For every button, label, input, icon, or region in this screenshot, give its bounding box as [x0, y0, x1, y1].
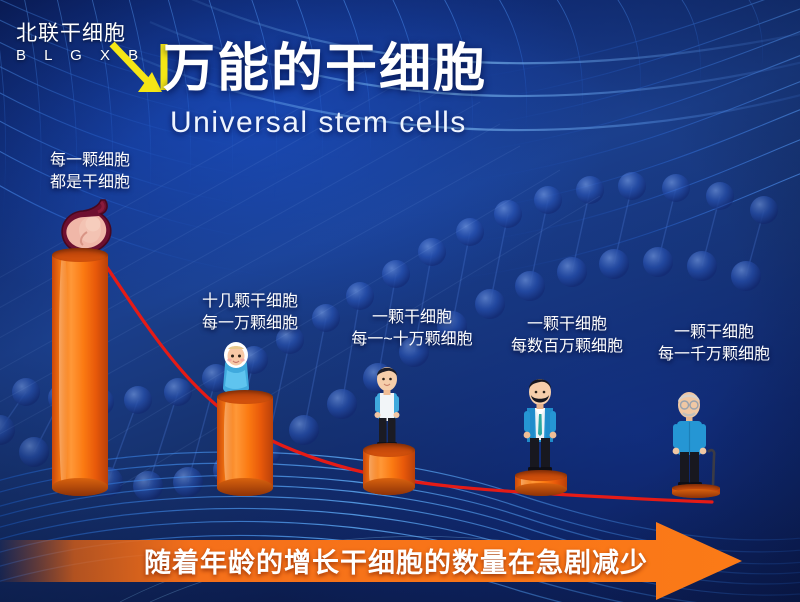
stage-label-embryo-line1: 每一颗细胞 [0, 150, 180, 172]
stage-label-elder-line2: 每一千万颗细胞 [624, 344, 800, 366]
stage-label-elder: 一颗干细胞 每一千万颗细胞 [624, 322, 800, 366]
stage-label-embryo-line2: 都是干细胞 [0, 172, 180, 194]
pedestal-elder [672, 484, 720, 498]
elderly-man-with-cane-figure [668, 386, 718, 492]
young-student-figure [368, 362, 406, 448]
pedestal-adult [515, 470, 567, 496]
stage-label-embryo: 每一颗细胞 都是干细胞 [0, 150, 180, 194]
pedestal-youth [363, 443, 415, 495]
infographic-canvas: 北联干细胞 B L G X B 万能的干细胞 Universal stem ce… [0, 0, 800, 602]
page-title: 万能的干细胞 [163, 43, 487, 95]
banner-text: 随着年龄的增长干细胞的数量在急剧减少 [136, 541, 656, 580]
pedestal-embryo [52, 248, 108, 496]
pedestal-baby [217, 390, 273, 496]
stage-label-elder-line1: 一颗干细胞 [624, 322, 800, 344]
bearded-businessman-figure [518, 372, 562, 474]
down-right-arrow-icon [108, 40, 170, 98]
page-subtitle: Universal stem cells [170, 108, 467, 138]
